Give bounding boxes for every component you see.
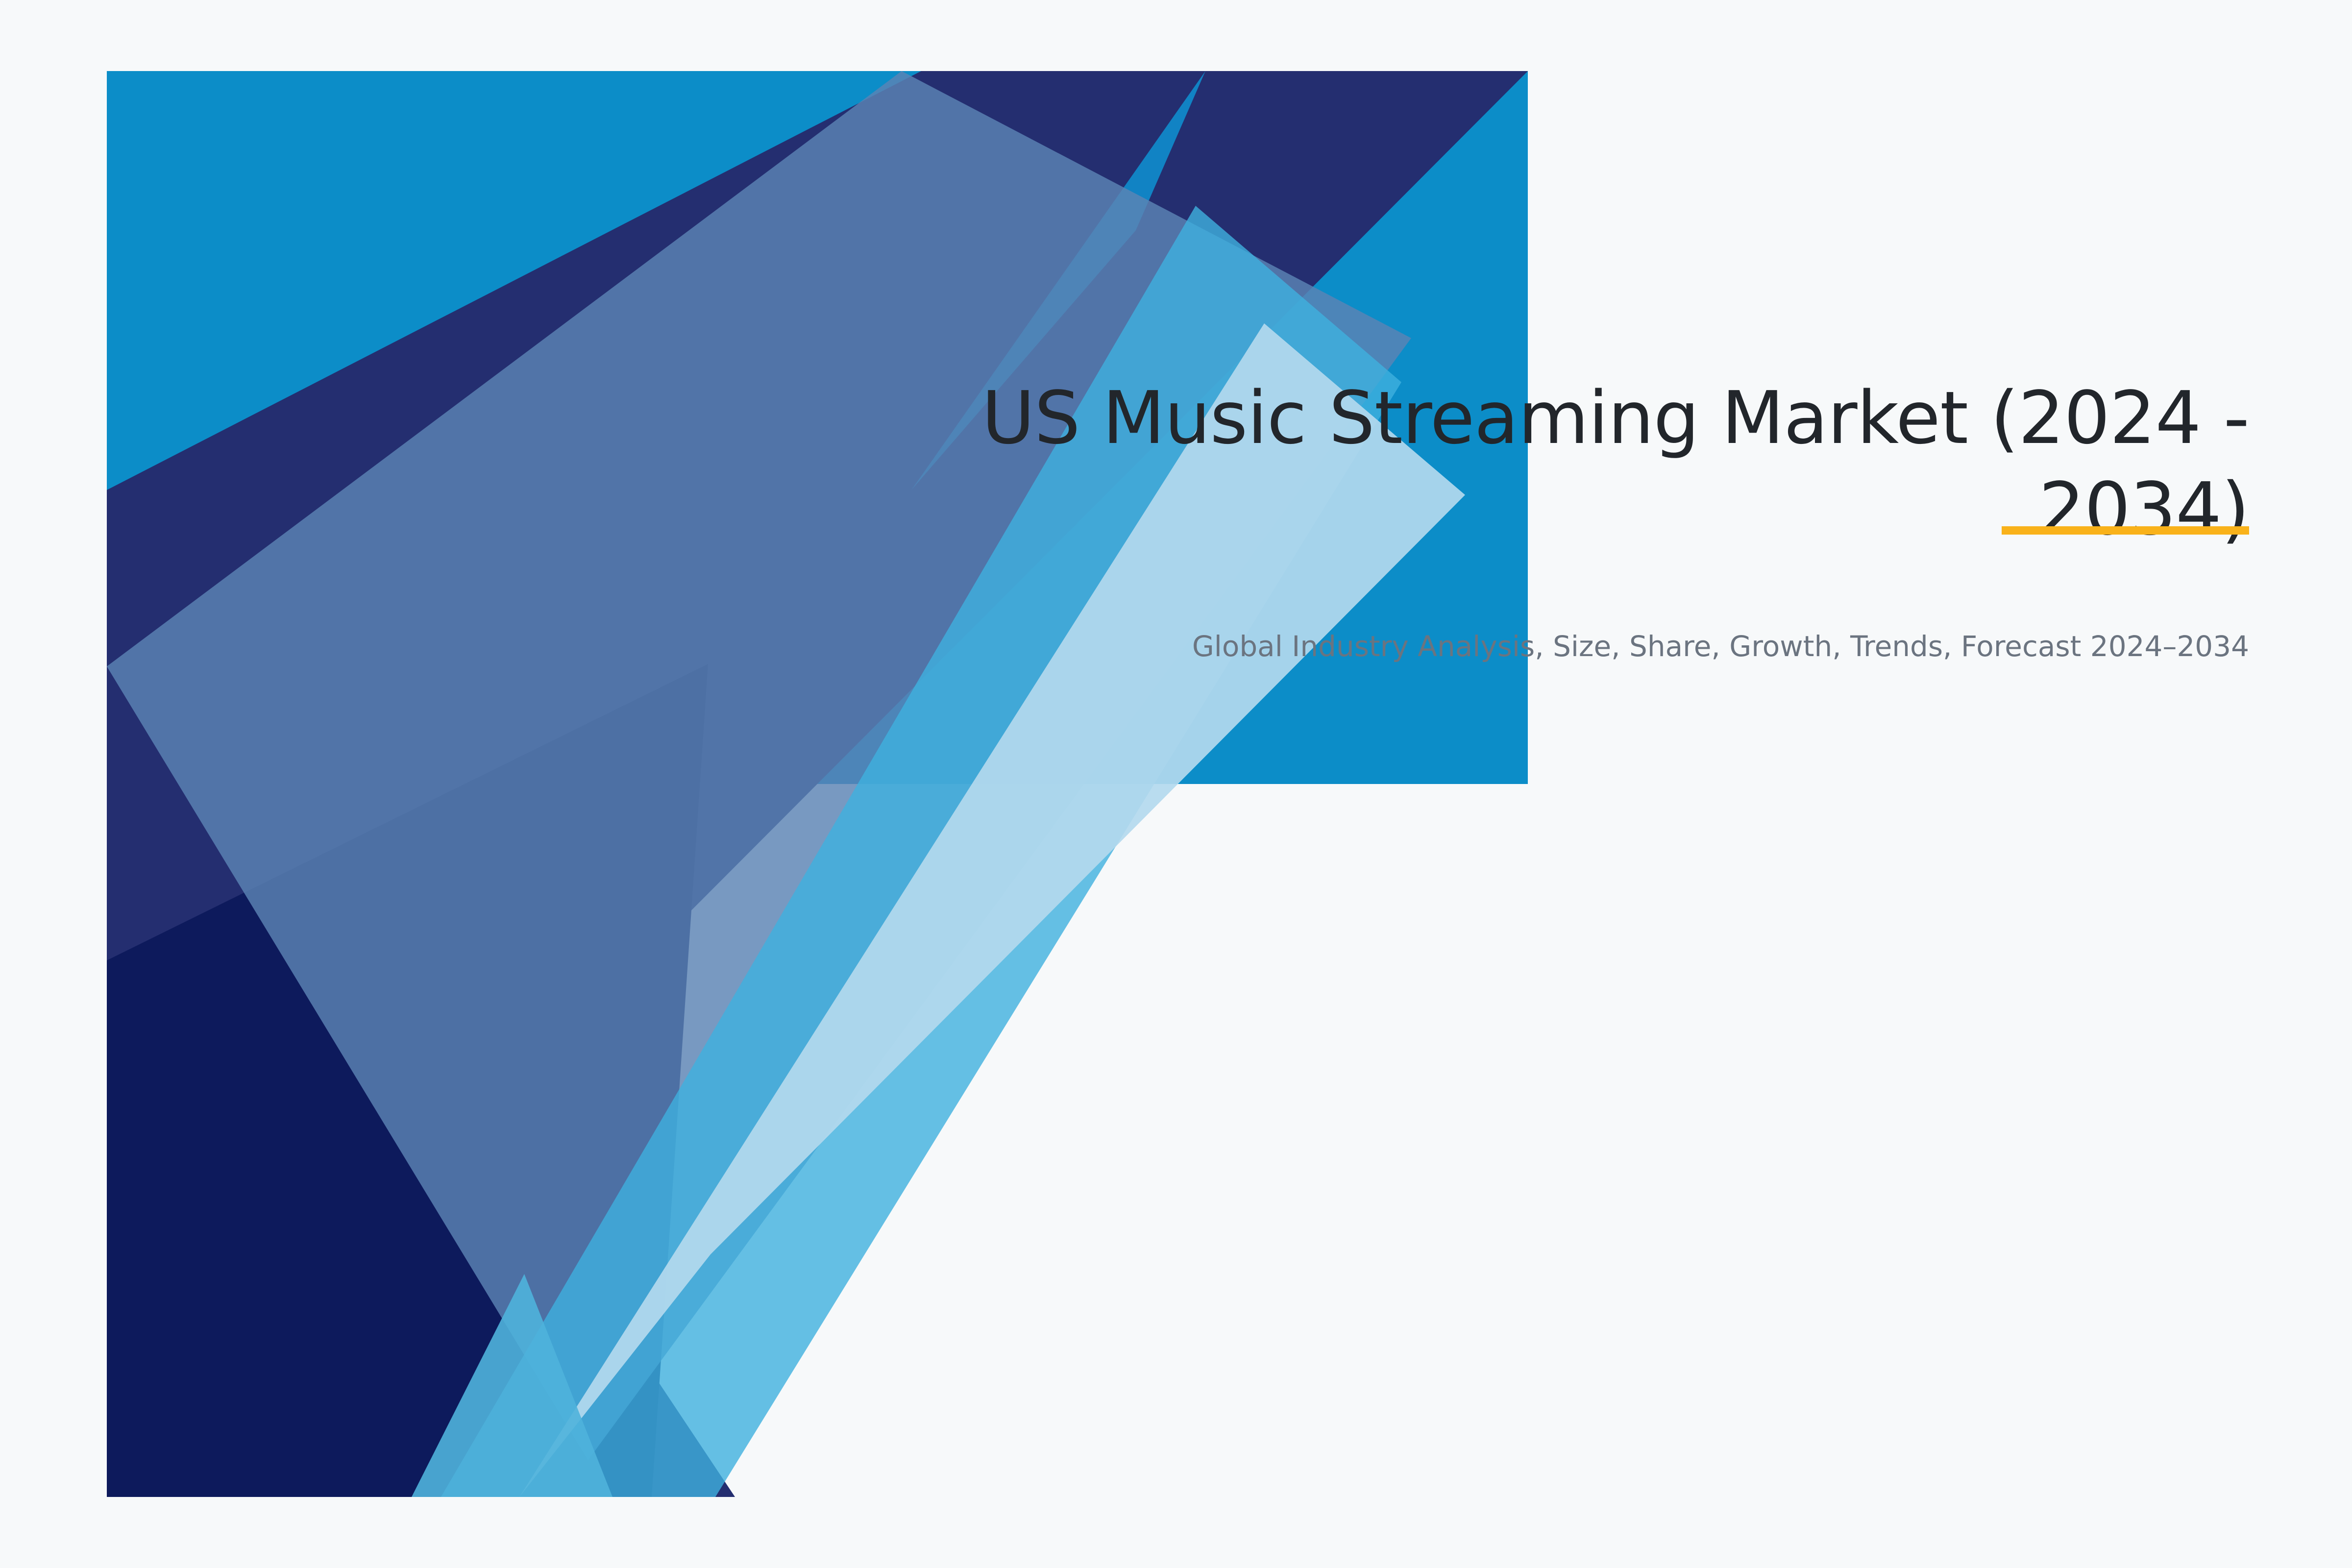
- title-accent-underline: [2002, 526, 2249, 535]
- title-slide: US Music Streaming Market (2024 - 2034) …: [0, 0, 2352, 1568]
- title-wrapper: US Music Streaming Market (2024 - 2034): [833, 372, 2249, 555]
- title-text-block: US Music Streaming Market (2024 - 2034) …: [833, 372, 2249, 666]
- page-subtitle: Global Industry Analysis, Size, Share, G…: [833, 555, 2249, 666]
- abstract-geometric-artwork: [0, 0, 2352, 1568]
